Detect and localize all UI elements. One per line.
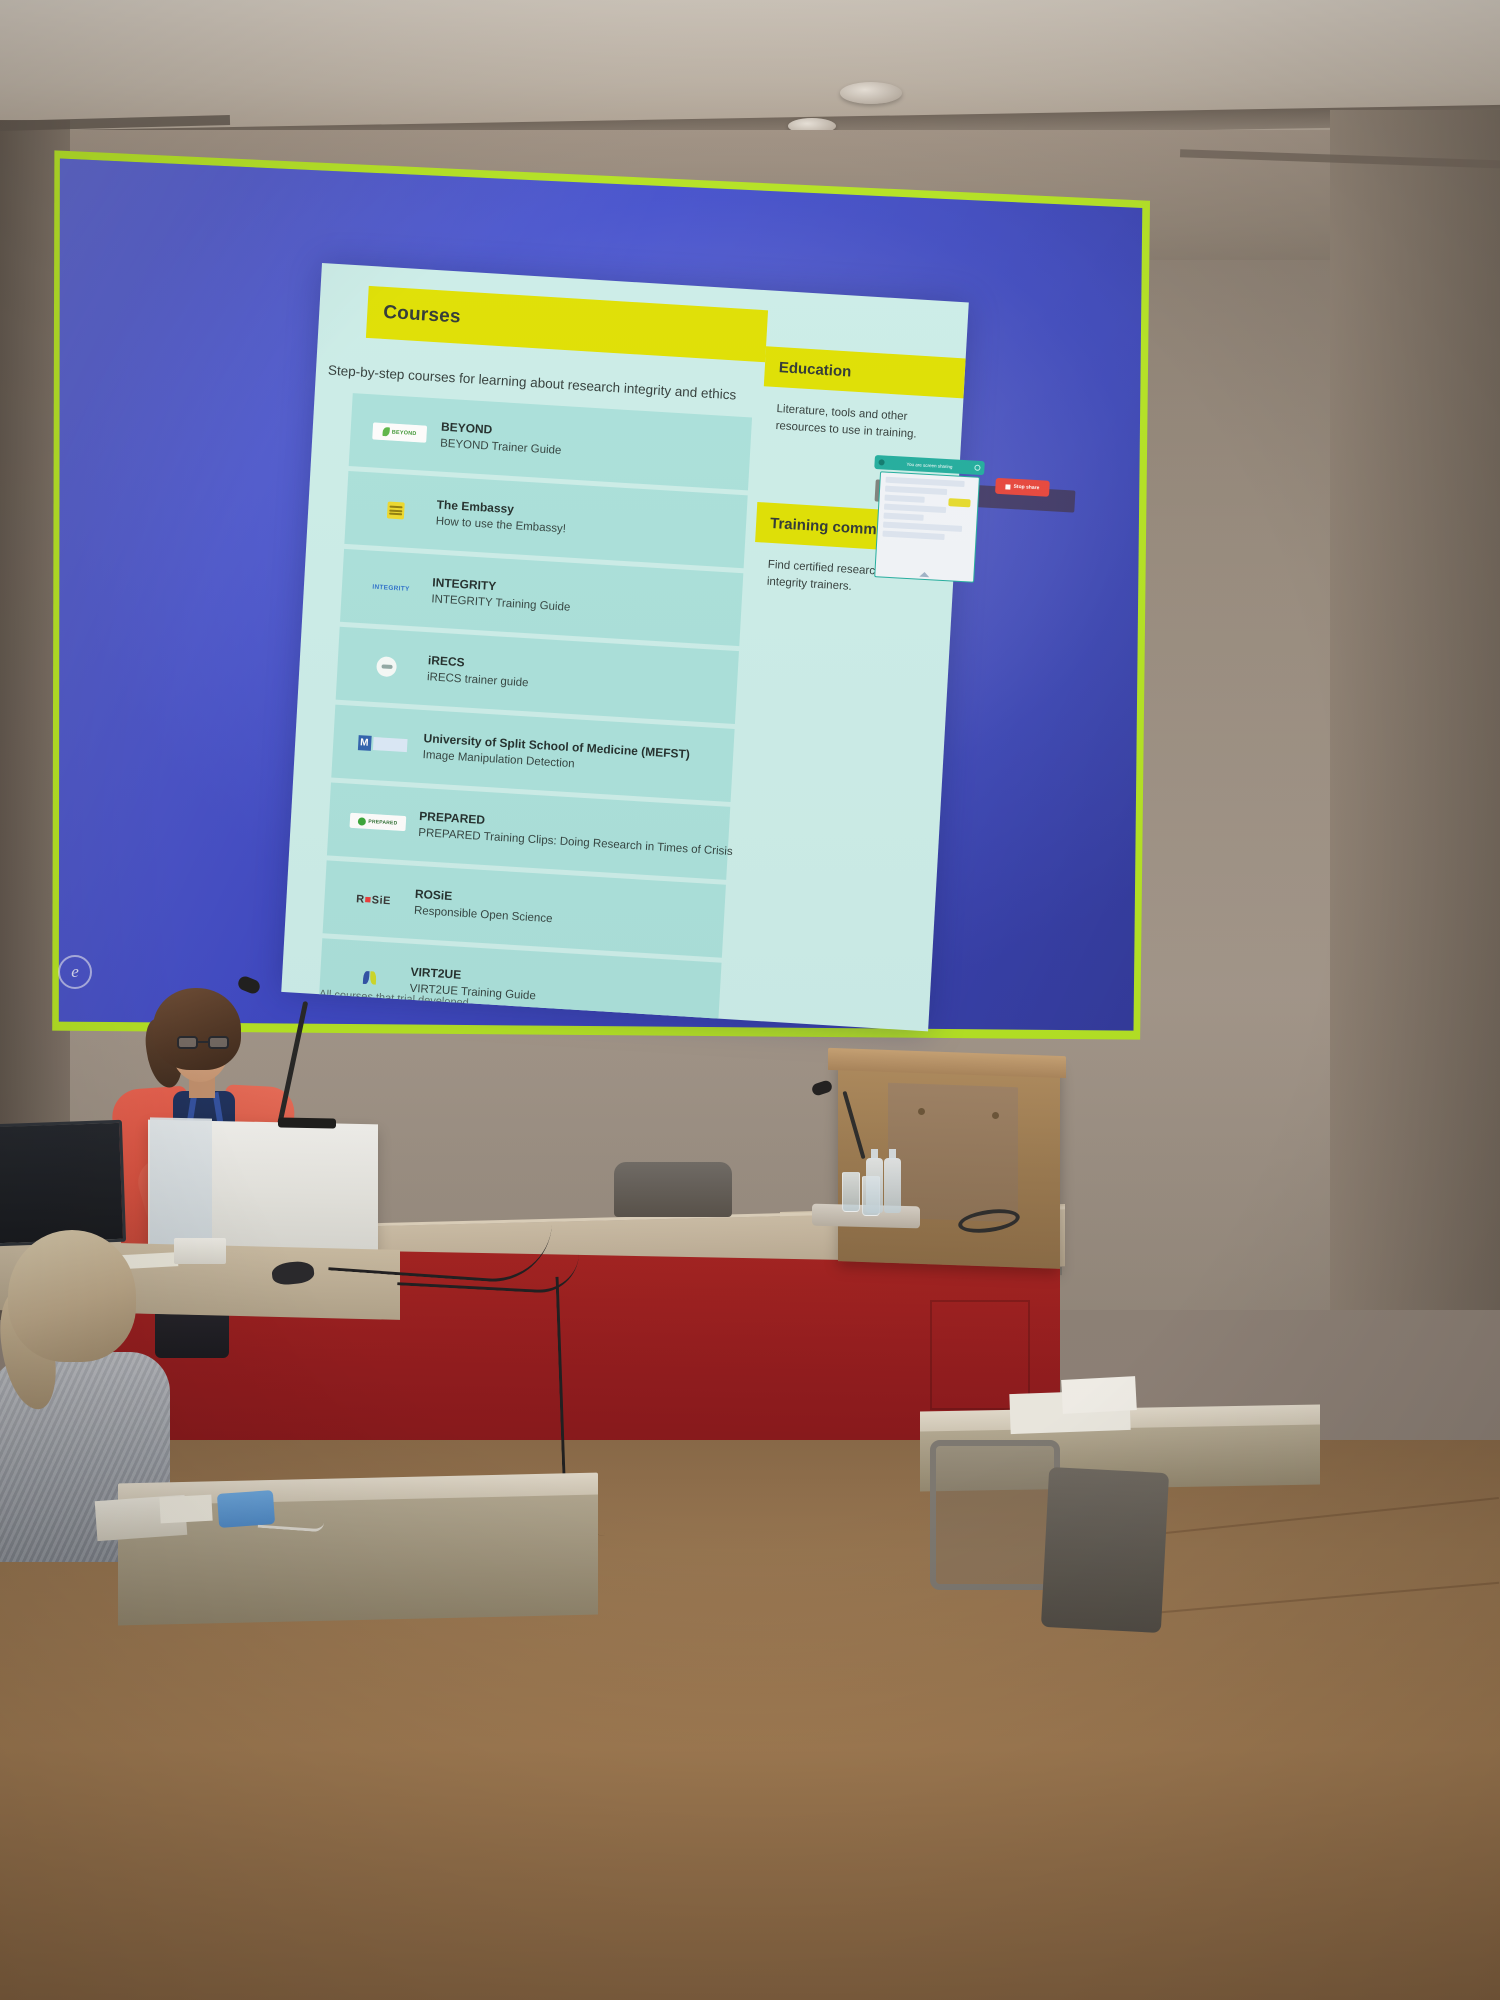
podium-microphone-base bbox=[278, 1117, 336, 1128]
shared-window-preview[interactable] bbox=[874, 471, 980, 582]
panel-education[interactable]: Education Literature, tools and other re… bbox=[760, 346, 966, 463]
water-glass bbox=[842, 1172, 860, 1212]
water-bottle bbox=[884, 1158, 901, 1213]
projection-screen: e Courses Step-by-step courses for learn… bbox=[50, 145, 1150, 1045]
control-monitor[interactable] bbox=[0, 1120, 126, 1246]
preview-row bbox=[884, 495, 924, 503]
audience-hair bbox=[8, 1230, 136, 1362]
share-status-text: You are screen sharing bbox=[887, 460, 971, 470]
panel-education-body: Literature, tools and other resources to… bbox=[760, 386, 963, 463]
stop-icon bbox=[1005, 484, 1010, 489]
lectern-knob bbox=[992, 1112, 999, 1119]
lectern-front-inset bbox=[888, 1083, 1018, 1223]
embassy-logo-icon bbox=[364, 496, 427, 526]
table-paper-2 bbox=[1061, 1376, 1137, 1414]
share-indicator-dot bbox=[878, 459, 884, 465]
audience-chair-right bbox=[930, 1440, 1060, 1590]
mefst-logo-icon: M bbox=[351, 729, 414, 759]
water-bottle bbox=[866, 1158, 883, 1213]
audience-chair-right-2 bbox=[1041, 1467, 1169, 1633]
stage-chair bbox=[614, 1162, 732, 1217]
lecture-hall-scene: e Courses Step-by-step courses for learn… bbox=[0, 0, 1500, 2000]
lectern-knob bbox=[918, 1108, 925, 1115]
audience-notebook bbox=[159, 1495, 212, 1524]
preview-yellow-button[interactable] bbox=[948, 498, 970, 507]
rosie-logo-icon: R■SiE bbox=[342, 885, 405, 915]
preview-row bbox=[882, 531, 944, 540]
courses-banner: Courses bbox=[366, 286, 768, 362]
chevron-up-icon[interactable] bbox=[919, 572, 929, 578]
ceiling-vent-1 bbox=[840, 82, 902, 104]
stop-share-label: Stop share bbox=[1013, 484, 1039, 491]
embassy-watermark-logo: e bbox=[58, 955, 92, 989]
preview-row bbox=[884, 504, 946, 513]
virt2ue-logo-icon bbox=[338, 963, 401, 993]
preview-row bbox=[885, 486, 947, 495]
right-wall bbox=[1330, 110, 1500, 1310]
presenter-hair bbox=[153, 988, 241, 1070]
share-settings-icon[interactable] bbox=[974, 465, 980, 471]
stop-share-button[interactable]: Stop share bbox=[995, 478, 1050, 497]
beyond-logo-icon: BEYOND bbox=[368, 418, 431, 448]
slide-main-column: Courses Step-by-step courses for learnin… bbox=[281, 263, 769, 1019]
slide-sidebar-column: Education Literature, tools and other re… bbox=[728, 290, 968, 1031]
course-list: BEYOND BEYOND BEYOND Trainer Guide bbox=[318, 393, 752, 1031]
projected-slide: Courses Step-by-step courses for learnin… bbox=[281, 263, 969, 1031]
integrity-logo-icon: INTEGRITY bbox=[359, 573, 422, 603]
presenter-glasses bbox=[177, 1036, 229, 1049]
irecs-logo-icon bbox=[355, 651, 418, 681]
screen-share-overlay[interactable]: You are screen sharing Stop share bbox=[868, 455, 997, 592]
prepared-logo-icon: PREPARED bbox=[346, 807, 409, 837]
preview-row bbox=[883, 513, 923, 521]
page-title: Courses bbox=[383, 302, 462, 329]
desk-device-box bbox=[174, 1238, 226, 1264]
